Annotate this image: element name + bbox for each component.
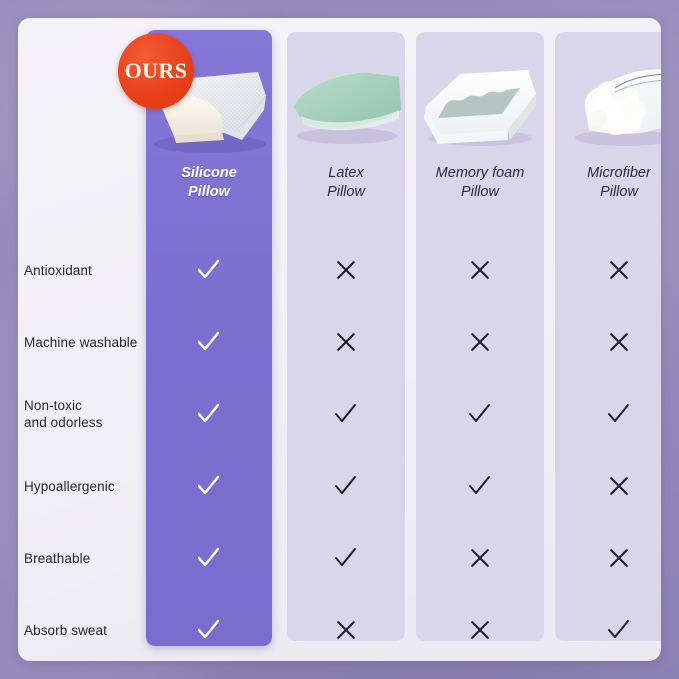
header-line1: Memory foam: [436, 165, 525, 181]
comparison-rows: Antioxidant Machine washable Non-toxic a…: [18, 230, 661, 638]
microfiber-pillow-image: [555, 44, 661, 160]
column-header-microfiber: Microfiber Pillow: [555, 44, 661, 230]
memory-foam-pillow-image: [416, 44, 544, 160]
feature-line1: Hypoallergenic: [24, 479, 115, 494]
cell-microfiber-non-toxic: [555, 380, 661, 448]
cell-latex-breathable: [287, 524, 405, 592]
feature-label: Hypoallergenic: [18, 478, 146, 495]
column-header-label-microfiber: Microfiber Pillow: [587, 164, 651, 202]
cell-silicone-breathable: [146, 524, 272, 592]
feature-line1: Breathable: [24, 551, 90, 566]
table-header-row: Silicone Pillow Late: [18, 18, 661, 230]
feature-line1: Non-toxic: [24, 398, 82, 413]
table-row: Non-toxic and odorless: [18, 380, 661, 448]
cell-silicone-machine-washable: [146, 308, 272, 376]
feature-line2: and odorless: [24, 414, 146, 431]
cell-microfiber-machine-washable: [555, 308, 661, 376]
header-line2: Pillow: [600, 184, 638, 200]
cell-microfiber-breathable: [555, 524, 661, 592]
ours-badge: OURS: [118, 33, 194, 109]
cell-memory-foam-antioxidant: [416, 236, 544, 304]
column-header-latex: Latex Pillow: [287, 44, 405, 230]
cell-microfiber-hypoallergenic: [555, 452, 661, 520]
header-line1: Microfiber: [587, 165, 651, 181]
header-line1: Latex: [328, 165, 363, 181]
latex-pillow-image: [287, 44, 405, 160]
cell-silicone-absorb-sweat: [146, 596, 272, 661]
cell-latex-machine-washable: [287, 308, 405, 376]
cell-latex-non-toxic: [287, 380, 405, 448]
header-line1: Silicone: [181, 165, 237, 181]
cell-memory-foam-absorb-sweat: [416, 596, 544, 661]
cell-memory-foam-hypoallergenic: [416, 452, 544, 520]
column-header-label-silicone: Silicone Pillow: [181, 164, 237, 202]
table-row: Machine washable: [18, 308, 661, 376]
cell-latex-hypoallergenic: [287, 452, 405, 520]
header-line2: Pillow: [327, 184, 365, 200]
cell-latex-antioxidant: [287, 236, 405, 304]
table-row: Absorb sweat: [18, 596, 661, 661]
feature-line1: Antioxidant: [24, 263, 92, 278]
cell-silicone-hypoallergenic: [146, 452, 272, 520]
table-row: Antioxidant: [18, 236, 661, 304]
table-row: Hypoallergenic: [18, 452, 661, 520]
column-header-label-memory-foam: Memory foam Pillow: [436, 164, 525, 202]
ours-badge-label: OURS: [125, 58, 188, 84]
feature-line1: Machine washable: [24, 335, 137, 350]
cell-silicone-non-toxic: [146, 380, 272, 448]
column-header-label-latex: Latex Pillow: [327, 164, 365, 202]
cell-memory-foam-non-toxic: [416, 380, 544, 448]
cell-memory-foam-breathable: [416, 524, 544, 592]
feature-label: Absorb sweat: [18, 622, 146, 639]
table-row: Breathable: [18, 524, 661, 592]
cell-memory-foam-machine-washable: [416, 308, 544, 376]
cell-silicone-antioxidant: [146, 236, 272, 304]
feature-line1: Absorb sweat: [24, 623, 107, 638]
feature-label: Machine washable: [18, 334, 146, 351]
cell-latex-absorb-sweat: [287, 596, 405, 661]
feature-label: Antioxidant: [18, 262, 146, 279]
header-line2: Pillow: [461, 184, 499, 200]
header-line2: Pillow: [188, 184, 230, 200]
comparison-card: Silicone Pillow Late: [18, 18, 661, 661]
feature-label: Breathable: [18, 550, 146, 567]
feature-label: Non-toxic and odorless: [18, 397, 146, 431]
cell-microfiber-absorb-sweat: [555, 596, 661, 661]
cell-microfiber-antioxidant: [555, 236, 661, 304]
column-header-memory-foam: Memory foam Pillow: [416, 44, 544, 230]
